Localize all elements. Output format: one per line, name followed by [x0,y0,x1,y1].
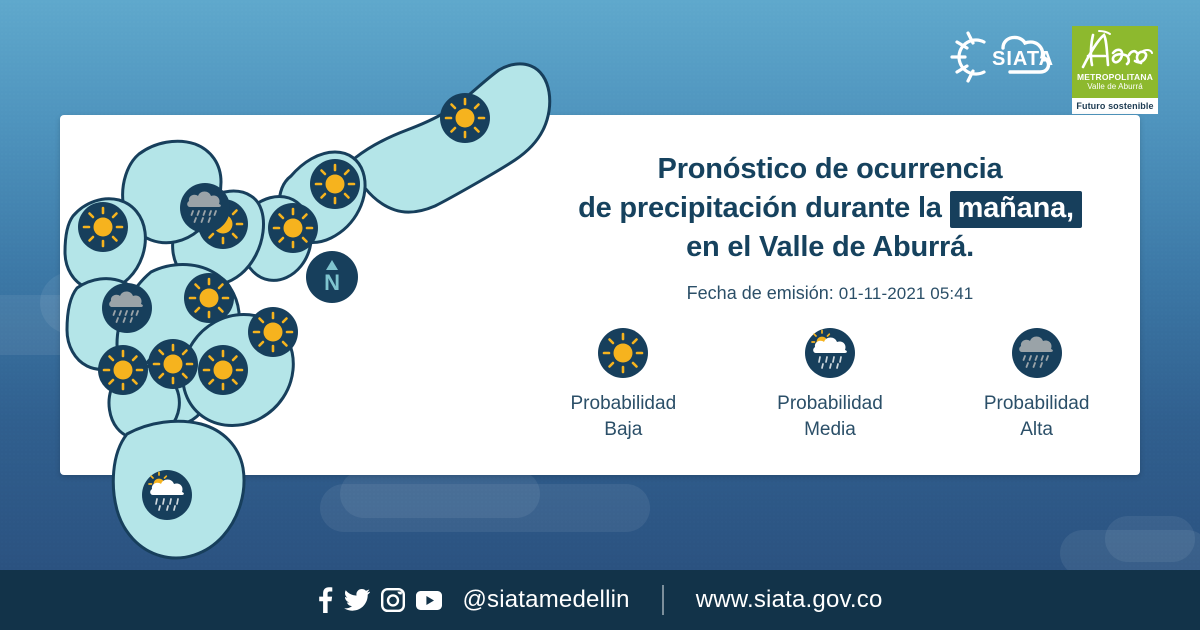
legend-item-media: Probabilidad Media [740,325,920,442]
social-handle[interactable]: @siatamedellin [462,586,629,614]
legend-alta-line1: Probabilidad [984,393,1090,414]
compass-label: N [324,270,340,295]
map-marker-medellin[interactable] [184,273,234,323]
twitter-icon[interactable] [344,589,370,611]
area-script-icon [1077,29,1153,73]
social-icons [317,587,442,613]
emission-date: Fecha de emisión: 01-11-2021 05:41 [520,283,1140,304]
title-highlight-badge: mañana, [950,191,1082,229]
probability-legend: Probabilidad Baja Probabilidad Media Pro… [520,325,1140,442]
am-line1: METROPOLITANA [1077,73,1153,82]
cloud-rain-icon [1009,325,1065,381]
map-marker-san-jeronimo[interactable] [78,202,128,252]
legend-label-baja: Probabilidad Baja [571,391,677,442]
instagram-icon[interactable] [381,588,405,612]
map-marker-caldas[interactable] [142,470,192,520]
title-line-2: de precipitación durante la mañana, [520,189,1140,229]
facebook-icon[interactable] [317,587,333,613]
title-line-1: Pronóstico de ocurrencia [520,150,1140,189]
map-marker-sabaneta[interactable] [198,345,248,395]
legend-baja-line1: Probabilidad [571,393,677,414]
infographic-root: SIATA METROPOLITANA Va [0,0,1200,630]
sun-icon [595,325,651,381]
website-url[interactable]: www.siata.gov.co [696,586,883,614]
emission-date-label: Fecha de emisión: [687,283,834,303]
siata-logo: SIATA [940,26,1060,88]
legend-media-line2: Media [804,419,856,440]
legend-item-alta: Probabilidad Alta [947,325,1127,442]
legend-item-baja: Probabilidad Baja [533,325,713,442]
header-logos: SIATA METROPOLITANA Va [940,26,1158,114]
svg-text:SIATA: SIATA [992,48,1054,70]
legend-media-line1: Probabilidad [777,393,883,414]
map-marker-la-estrella[interactable] [98,345,148,395]
emission-date-value: 01-11-2021 05:41 [839,284,974,303]
valle-de-aburra-map: N [55,40,575,580]
am-line2: Valle de Aburrá [1087,82,1143,91]
legend-baja-line2: Baja [604,419,642,440]
map-marker-itagui[interactable] [148,339,198,389]
map-marker-ebejico[interactable] [102,283,152,333]
am-tagline: Futuro sostenible [1076,101,1153,111]
forecast-text-block: Pronóstico de ocurrencia de precipitació… [520,150,1140,304]
sun-cloud-rain-icon [802,325,858,381]
legend-label-media: Probabilidad Media [777,391,883,442]
map-marker-barbosa[interactable] [440,93,490,143]
page-title: Pronóstico de ocurrencia de precipitació… [520,150,1140,267]
footer: @siatamedellin www.siata.gov.co [0,570,1200,630]
title-line-3: en el Valle de Aburrá. [520,228,1140,267]
map-marker-girardota[interactable] [310,159,360,209]
map-marker-copacabana[interactable] [268,203,318,253]
map-marker-san-pedro[interactable] [180,183,230,233]
legend-label-alta: Probabilidad Alta [984,391,1090,442]
youtube-icon[interactable] [416,591,442,610]
footer-divider [662,585,664,615]
area-metropolitana-logo: METROPOLITANA Valle de Aburrá Futuro sos… [1072,26,1158,114]
title-line-2-text: de precipitación durante la [578,192,942,224]
map-marker-envigado[interactable] [248,307,298,357]
compass-rose: N [306,251,358,303]
legend-alta-line2: Alta [1020,419,1053,440]
